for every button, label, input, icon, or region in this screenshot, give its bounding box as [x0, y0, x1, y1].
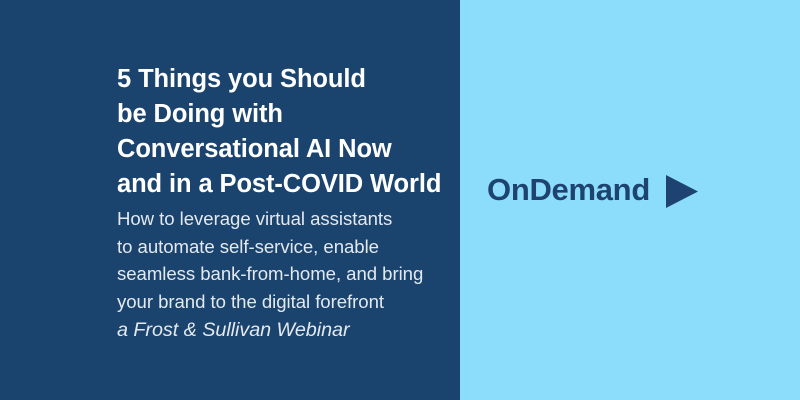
left-navy-panel: 5 Things you Should be Doing with Conver…	[0, 0, 460, 400]
webinar-promo-banner: 5 Things you Should be Doing with Conver…	[0, 0, 800, 400]
play-triangle-icon[interactable]	[666, 175, 698, 208]
subheadline-line-4: your brand to the digital forefront	[117, 288, 457, 316]
subheadline-line-3: seamless bank-from-home, and bring	[117, 260, 457, 288]
headline-line-4: and in a Post-COVID World	[117, 167, 457, 202]
headline-line-1: 5 Things you Should	[117, 62, 457, 97]
subheadline-line-2: to automate self-service, enable	[117, 233, 457, 261]
headline-line-3: Conversational AI Now	[117, 132, 457, 167]
right-lightblue-panel: OnDemand	[460, 0, 800, 400]
webinar-attribution: a Frost & Sullivan Webinar	[117, 316, 457, 345]
ondemand-cta[interactable]: OnDemand	[487, 170, 698, 210]
page-title: 5 Things you Should be Doing with Conver…	[117, 62, 457, 202]
ondemand-label: OnDemand	[487, 170, 650, 210]
subheadline: How to leverage virtual assistants to au…	[117, 205, 457, 345]
promo-text-block: 5 Things you Should be Doing with Conver…	[117, 62, 457, 345]
subheadline-line-1: How to leverage virtual assistants	[117, 205, 457, 233]
headline-line-2: be Doing with	[117, 97, 457, 132]
